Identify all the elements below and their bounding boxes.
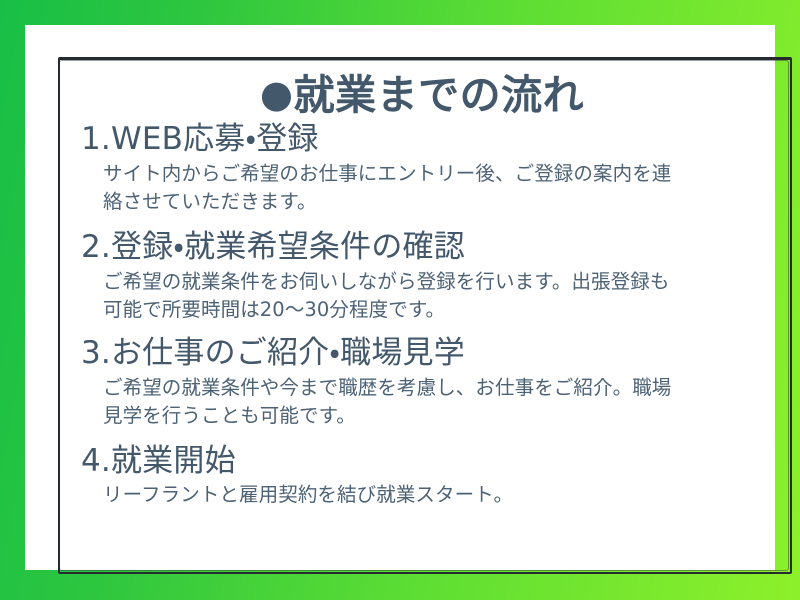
content-area: ●就業までの流れ 1.WEB応募・登録 サイト内からご希望のお仕事にエントリー後… xyxy=(65,63,785,571)
step-body-1: サイト内からご希望のお仕事にエントリー後、ご登録の案内を連 絡させていただきます… xyxy=(103,160,771,215)
step-heading-1: 1.WEB応募・登録 xyxy=(81,121,771,159)
step-heading-3: 3.お仕事のご紹介・職場見学 xyxy=(81,335,771,373)
list-item: 3.お仕事のご紹介・職場見学 ご希望の就業条件や今まで職歴を考慮し、お仕事をご紹… xyxy=(73,335,771,429)
step-heading-2: 2.登録・就業希望条件の確認 xyxy=(81,229,771,267)
steps-list: 1.WEB応募・登録 サイト内からご希望のお仕事にエントリー後、ご登録の案内を連… xyxy=(73,121,771,509)
step-body-line: 可能で所要時間は20〜30分程度です。 xyxy=(103,296,771,324)
step-heading-4: 4.就業開始 xyxy=(81,443,771,481)
bullet-icon: ● xyxy=(260,72,294,116)
page-title: ●就業までの流れ xyxy=(73,74,771,117)
step-body-line: ご希望の就業条件や今まで職歴を考慮し、お仕事をご紹介。職場 xyxy=(103,374,771,402)
page-title-text: 就業までの流れ xyxy=(294,71,585,119)
step-body-line: サイト内からご希望のお仕事にエントリー後、ご登録の案内を連 xyxy=(103,160,771,188)
step-body-2: ご希望の就業条件をお伺いしながら登録を行います。出張登録も 可能で所要時間は20… xyxy=(103,268,771,323)
list-item: 4.就業開始 リーフラントと雇用契約を結び就業スタート。 xyxy=(73,443,771,510)
step-body-line: リーフラントと雇用契約を結び就業スタート。 xyxy=(103,481,771,509)
step-body-3: ご希望の就業条件や今まで職歴を考慮し、お仕事をご紹介。職場 見学を行うことも可能… xyxy=(103,374,771,429)
step-body-line: 絡させていただきます。 xyxy=(103,188,771,216)
list-item: 1.WEB応募・登録 サイト内からご希望のお仕事にエントリー後、ご登録の案内を連… xyxy=(73,121,771,215)
step-body-4: リーフラントと雇用契約を結び就業スタート。 xyxy=(103,481,771,509)
list-item: 2.登録・就業希望条件の確認 ご希望の就業条件をお伺いしながら登録を行います。出… xyxy=(73,229,771,323)
white-card: ●就業までの流れ 1.WEB応募・登録 サイト内からご希望のお仕事にエントリー後… xyxy=(25,25,775,570)
step-body-line: 見学を行うことも可能です。 xyxy=(103,402,771,430)
slide-background: ●就業までの流れ 1.WEB応募・登録 サイト内からご希望のお仕事にエントリー後… xyxy=(0,0,800,600)
step-body-line: ご希望の就業条件をお伺いしながら登録を行います。出張登録も xyxy=(103,268,771,296)
